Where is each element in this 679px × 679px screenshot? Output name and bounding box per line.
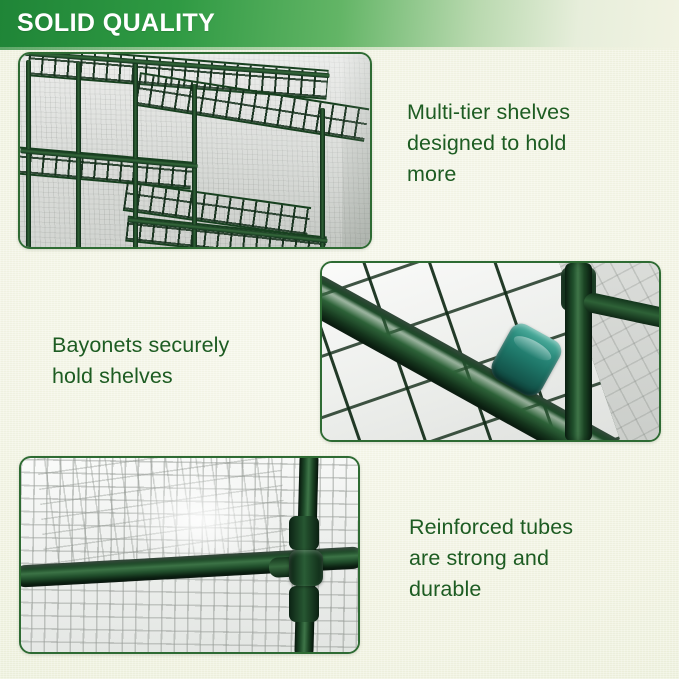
- frame-post-right: [320, 108, 325, 247]
- tube-sleeve-upper: [289, 516, 319, 550]
- photo-panel-multi-tier-shelves: [18, 52, 372, 249]
- shelving-photo: [20, 54, 370, 247]
- vertical-frame-post: [565, 263, 592, 440]
- infographic-canvas: SOLID QUALITY: [0, 0, 679, 679]
- page-title: SOLID QUALITY: [17, 11, 215, 36]
- photo-panel-reinforced-tubes: [19, 456, 360, 654]
- bayonet-photo: [322, 263, 659, 440]
- banner-underline-divider: [0, 47, 679, 50]
- cover-corner-fold: [342, 54, 370, 247]
- tube-sleeve-lower: [289, 586, 319, 622]
- tubes-photo: [21, 458, 358, 652]
- cross-joint-connector: [289, 550, 323, 586]
- caption-bayonets: Bayonets securely hold shelves: [52, 330, 317, 392]
- caption-reinforced-tubes: Reinforced tubes are strong and durable: [409, 512, 659, 605]
- photo-panel-bayonet-clip: [320, 261, 661, 442]
- header-banner: SOLID QUALITY: [0, 0, 679, 47]
- caption-multi-tier-shelves: Multi-tier shelves designed to hold more: [407, 97, 657, 190]
